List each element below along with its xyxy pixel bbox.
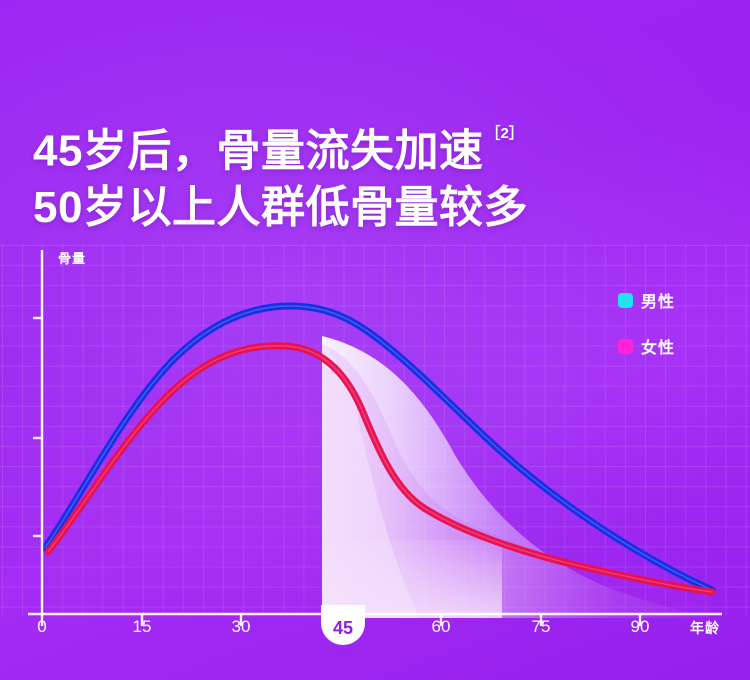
legend-label-female: 女性 (641, 334, 675, 358)
page-title: 45岁后，骨量流失加速［2］ 50岁以上人群低骨量较多 (33, 118, 653, 236)
citation-superscript: ［2］ (485, 125, 523, 142)
legend-label-male: 男性 (641, 288, 675, 312)
x-tick-30: 30 (218, 617, 264, 637)
headline-line-1: 45岁后，骨量流失加速［2］ (33, 118, 653, 180)
x-tick-0: 0 (19, 617, 65, 637)
x-tick-15: 15 (119, 617, 165, 637)
legend-swatch-female-icon (618, 339, 633, 354)
headline-line-1-text: 45岁后，骨量流失加速 (33, 127, 483, 176)
headline-line-2: 50岁以上人群低骨量较多 (33, 180, 653, 236)
infographic-canvas: 45岁后，骨量流失加速［2］ 50岁以上人群低骨量较多 (0, 0, 750, 680)
legend-swatch-male-icon (618, 293, 633, 308)
x-tick-60: 60 (418, 617, 464, 637)
x-tick-90: 90 (617, 617, 663, 637)
legend-item-male[interactable]: 男性 (618, 288, 675, 312)
y-axis-label: 骨量 (58, 248, 86, 267)
x-tick-75: 75 (518, 617, 564, 637)
chart-legend: 男性 女性 (618, 288, 675, 380)
x-axis-label: 年龄 (690, 618, 720, 638)
legend-item-female[interactable]: 女性 (618, 334, 675, 358)
